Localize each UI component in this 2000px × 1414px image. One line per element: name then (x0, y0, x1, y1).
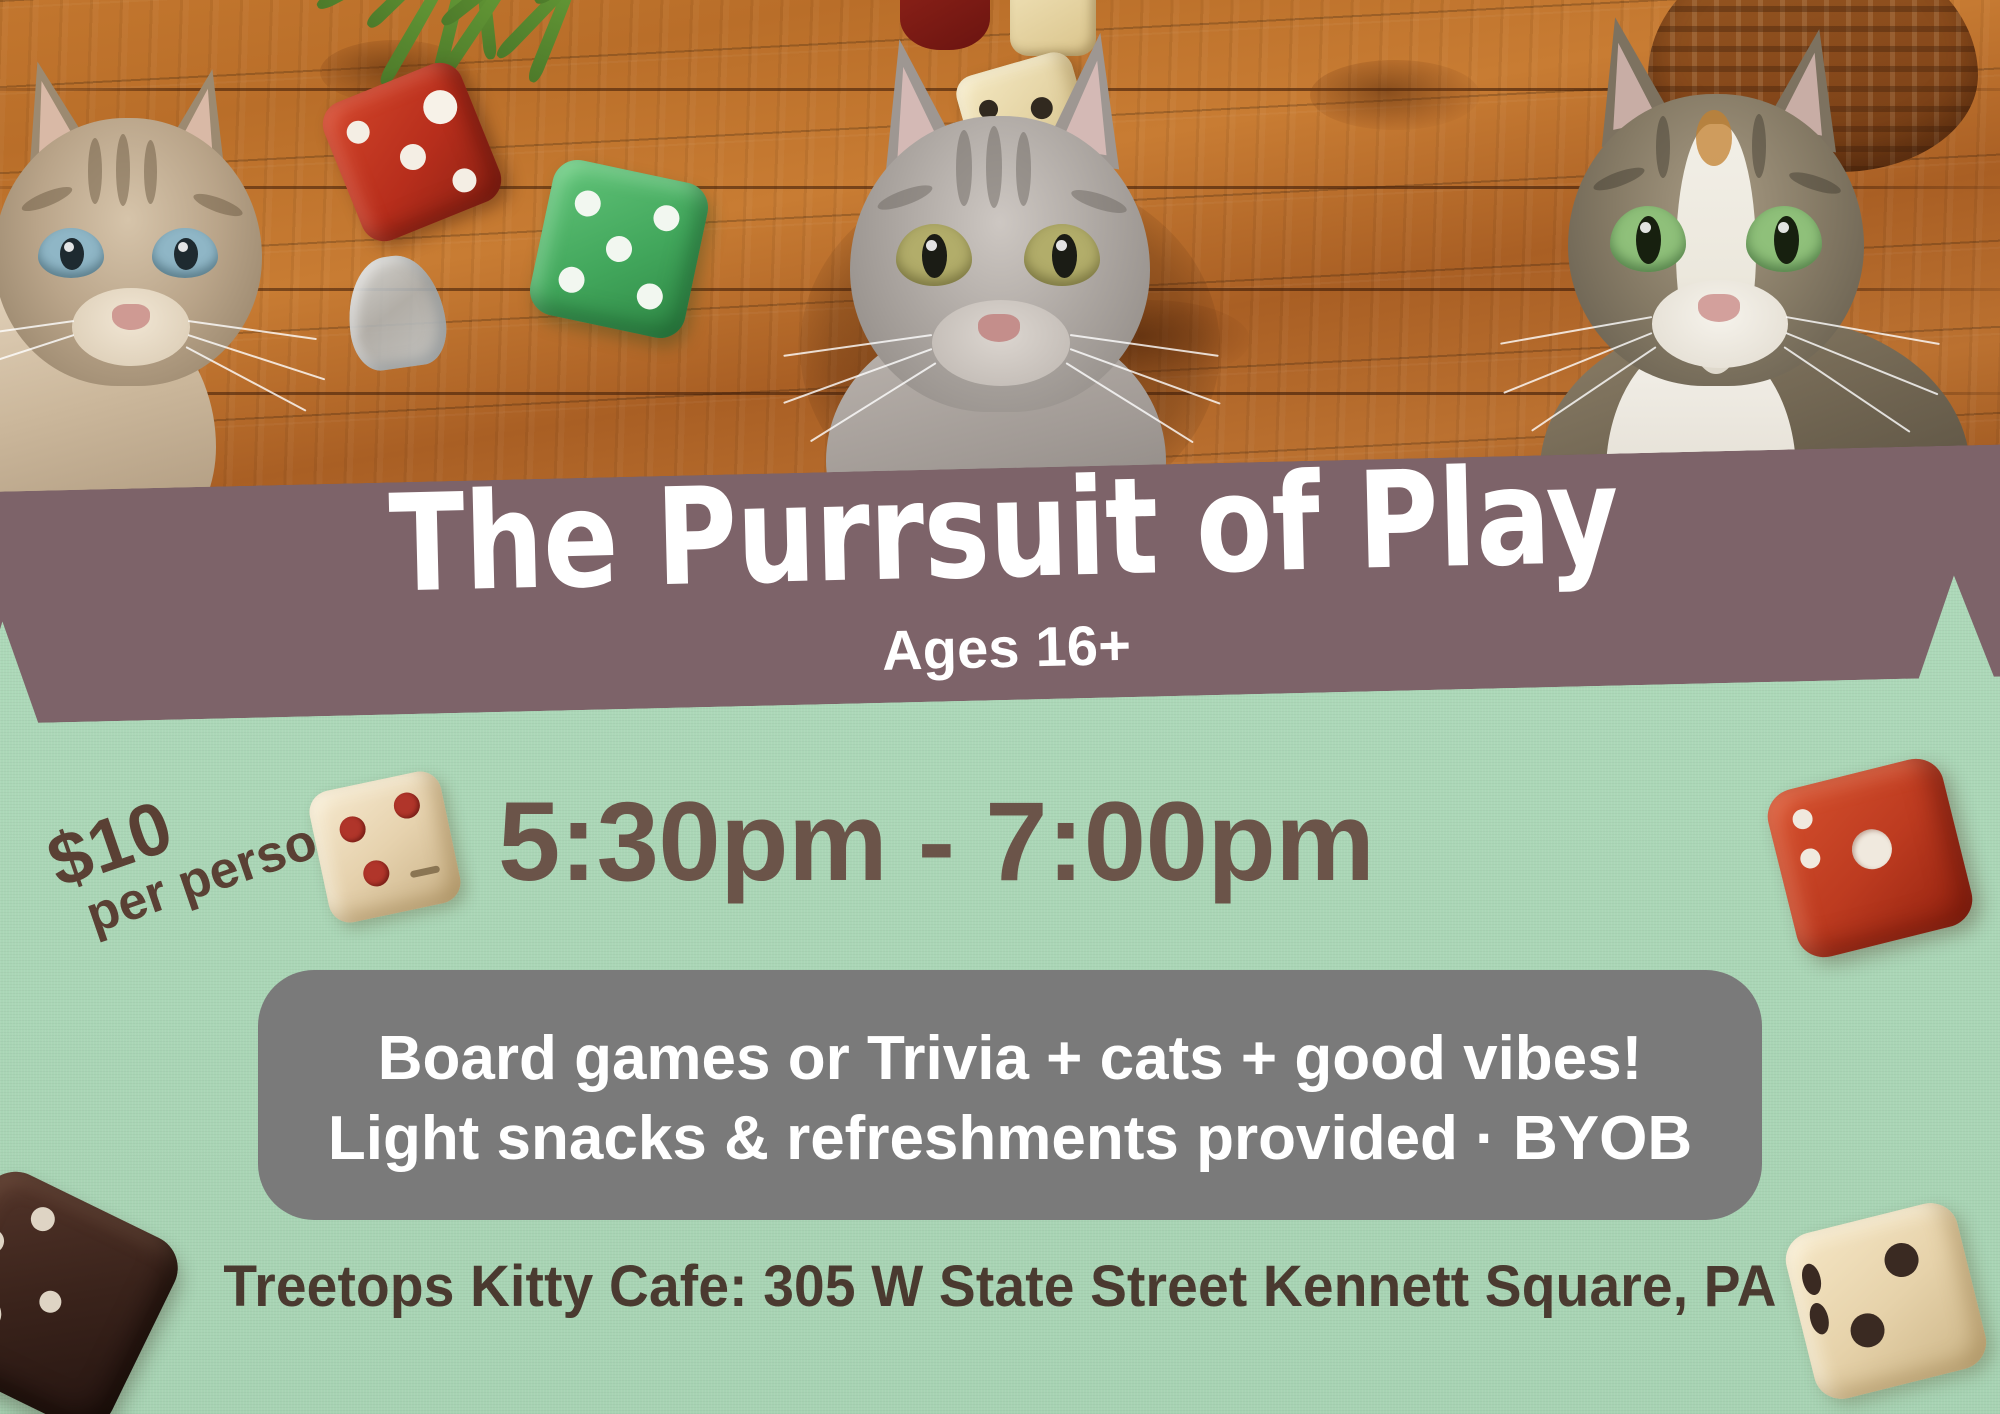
event-time: 5:30pm - 7:00pm (498, 786, 1374, 898)
venue-address: Treetops Kitty Cafe: 305 W State Street … (50, 1258, 1950, 1316)
event-flyer: The Purrsuit of Play Ages 16+ $10 per pe… (0, 0, 2000, 1414)
title-banner: The Purrsuit of Play Ages 16+ (0, 443, 2000, 724)
wood-knot (1310, 60, 1480, 130)
brown-tabby-cat-left (0, 52, 360, 492)
event-details-box: Board games or Trivia + cats + good vibe… (258, 970, 1762, 1220)
cat-photo-band (0, 0, 2000, 492)
gray-tabby-cat-center (770, 18, 1240, 492)
event-details-line-1: Board games or Trivia + cats + good vibe… (258, 1028, 1762, 1090)
green-die (525, 155, 712, 342)
decor-die-cream-price (306, 768, 465, 927)
tabby-white-cat-right (1480, 6, 2000, 492)
event-details-line-2: Light snacks & refreshments provided · B… (258, 1108, 1762, 1170)
